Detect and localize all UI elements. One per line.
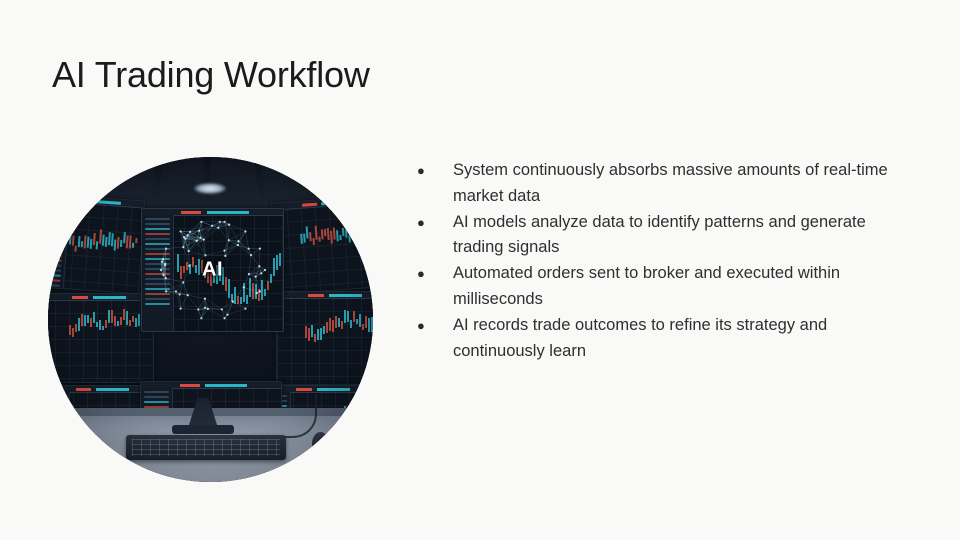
list-item-text: Automated orders sent to broker and exec…	[453, 261, 910, 313]
list-item: ● AI records trade outcomes to refine it…	[410, 313, 910, 365]
list-item: ● AI models analyze data to identify pat…	[410, 210, 910, 262]
monitor-upper-right	[271, 195, 373, 294]
monitor-left-mid	[48, 293, 154, 383]
ceiling-light	[194, 183, 226, 194]
list-item-text: AI models analyze data to identify patte…	[453, 210, 910, 262]
candlestick-chart	[66, 202, 142, 282]
mouse	[312, 432, 329, 456]
candlestick-chart	[304, 298, 373, 373]
bullet-marker-icon: ●	[410, 210, 453, 236]
list-item: ● System continuously absorbs massive am…	[410, 158, 910, 210]
monitor-upper-left	[48, 194, 145, 295]
bullet-marker-icon: ●	[410, 158, 453, 184]
candlestick-chart	[298, 203, 373, 282]
keyboard-keys	[132, 439, 280, 456]
photo-scene: AI	[48, 157, 373, 482]
trading-desk-image: AI	[48, 157, 373, 482]
list-item-text: AI records trade outcomes to refine its …	[453, 313, 910, 365]
bullet-marker-icon: ●	[410, 313, 453, 339]
keyboard	[126, 435, 286, 460]
monitor-stand-base	[172, 425, 234, 434]
candlestick-chart	[68, 300, 151, 371]
page-title: AI Trading Workflow	[52, 52, 370, 97]
list-item: ● Automated orders sent to broker and ex…	[410, 261, 910, 313]
ai-label: AI	[202, 259, 223, 282]
bullet-marker-icon: ●	[410, 261, 453, 287]
list-item-text: System continuously absorbs massive amou…	[453, 158, 910, 210]
monitor-right-mid	[276, 291, 373, 385]
monitor-center-ai: AI	[141, 208, 284, 332]
bullet-list: ● System continuously absorbs massive am…	[410, 158, 910, 364]
